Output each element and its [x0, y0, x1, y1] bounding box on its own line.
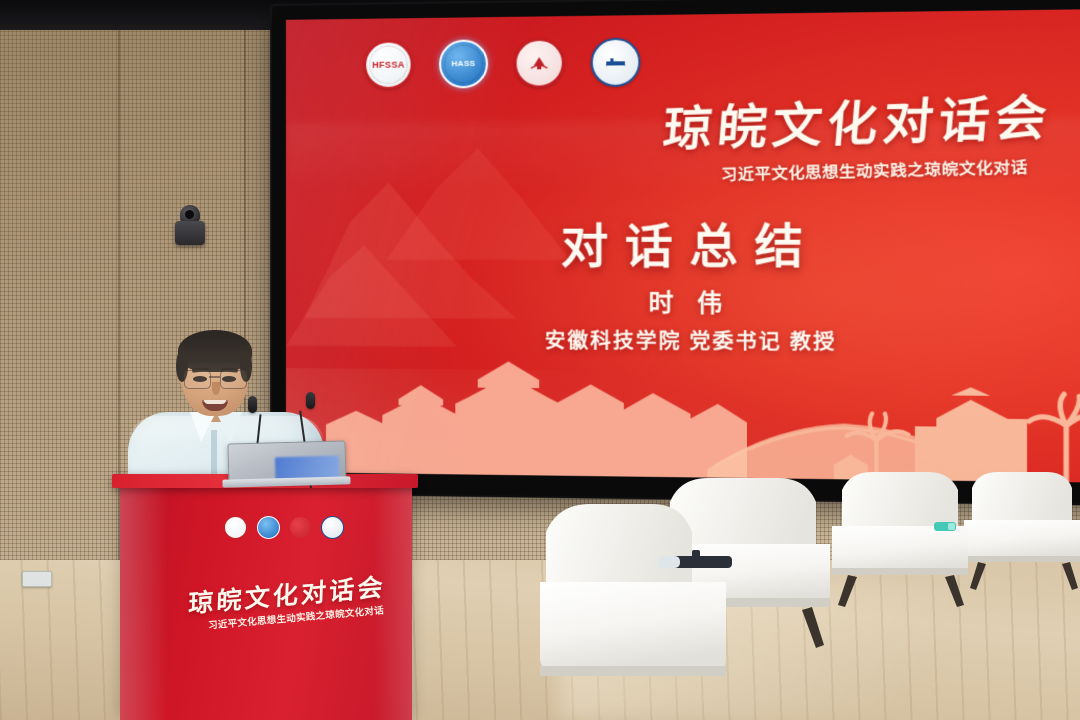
organizer-logos: HFSSA HASS: [364, 38, 640, 90]
glasses-bridge: [209, 376, 220, 378]
teeth: [204, 400, 226, 404]
session-title: 对话总结: [468, 209, 917, 277]
laptop[interactable]: [227, 440, 344, 487]
logo-ring: [369, 45, 407, 84]
mic-head: [306, 392, 315, 409]
hass-logo: HASS: [439, 39, 488, 88]
speaker-name: 时 伟: [468, 282, 917, 319]
conference-hall-photo: HFSSA HASS: [0, 0, 1080, 720]
ptz-camera: [172, 205, 208, 245]
nose: [212, 382, 220, 395]
podium-logos: [224, 516, 344, 539]
red-emblem-logo: [515, 39, 564, 88]
pagoda-icon: [528, 56, 551, 70]
bridge-emblem-logo: [321, 516, 344, 539]
bridge-icon: [604, 55, 627, 70]
hainan-landmark-silhouette: [707, 363, 1080, 483]
led-screen: HFSSA HASS: [286, 9, 1080, 482]
hfssa-logo: [224, 516, 247, 539]
event-title: 琼皖文化对话会: [642, 94, 1073, 156]
mic-head: [248, 396, 257, 413]
hfssa-logo: HFSSA: [364, 40, 412, 89]
camera-body: [175, 221, 205, 245]
led-screen-frame: HFSSA HASS: [272, 0, 1080, 504]
lens-right: [220, 370, 247, 389]
podium-highlight-left: [120, 482, 168, 720]
camera-lens-icon: [185, 210, 194, 219]
lens-left: [184, 370, 211, 389]
red-emblem-logo: [290, 517, 311, 538]
wall-outlet: [22, 571, 52, 587]
hass-logo: [257, 516, 280, 539]
podium: 琼皖文化对话会 习近平文化思想生动实践之琼皖文化对话: [120, 482, 412, 720]
speaker-affiliation: 安徽科技学院 党委书记 教授: [437, 324, 949, 356]
bridge-emblem-logo: [591, 38, 641, 87]
logo-ring: [444, 45, 483, 84]
